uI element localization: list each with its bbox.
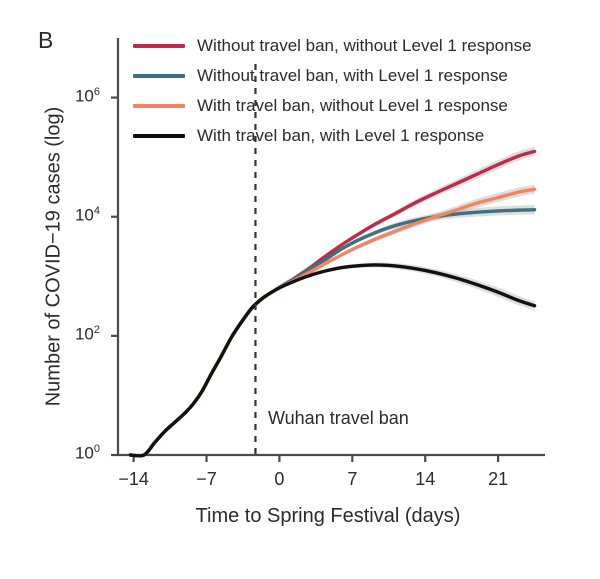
y-tick-label: 102: [40, 324, 100, 345]
legend-item[interactable]: With travel ban, with Level 1 response: [133, 123, 532, 148]
y-tick-label: 100: [40, 443, 100, 464]
x-tick-label: 7: [322, 469, 382, 490]
x-tick-label: 14: [395, 469, 455, 490]
y-tick-label: 104: [40, 205, 100, 226]
legend-item[interactable]: With travel ban, without Level 1 respons…: [133, 93, 532, 118]
y-tick-label: 106: [40, 86, 100, 107]
legend-swatch-icon: [133, 44, 185, 48]
legend-item-label: Without travel ban, without Level 1 resp…: [197, 36, 532, 56]
x-tick-label: −14: [104, 469, 164, 490]
legend-item-label: Without travel ban, with Level 1 respons…: [197, 66, 508, 86]
x-tick-label: −7: [177, 469, 237, 490]
legend-swatch-icon: [133, 134, 185, 138]
legend-item[interactable]: Without travel ban, without Level 1 resp…: [133, 33, 532, 58]
legend-swatch-icon: [133, 74, 185, 78]
figure-panel-b: B Number of COVID−19 cases (log) Time to…: [0, 0, 600, 579]
legend-item-label: With travel ban, without Level 1 respons…: [197, 96, 508, 116]
chart-legend: Without travel ban, without Level 1 resp…: [133, 33, 532, 148]
x-tick-label: 0: [249, 469, 309, 490]
legend-item-label: With travel ban, with Level 1 response: [197, 126, 484, 146]
legend-swatch-icon: [133, 104, 185, 108]
legend-item[interactable]: Without travel ban, with Level 1 respons…: [133, 63, 532, 88]
wuhan-travel-ban-annotation: Wuhan travel ban: [268, 408, 409, 429]
x-tick-label: 21: [468, 469, 528, 490]
